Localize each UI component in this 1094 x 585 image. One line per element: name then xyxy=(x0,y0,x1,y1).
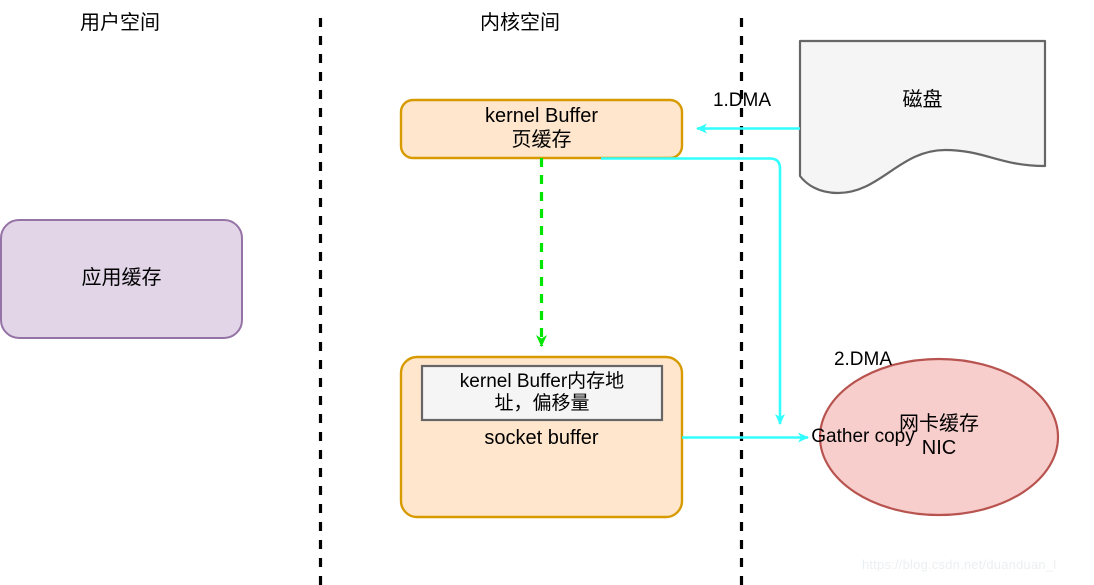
edge-label-dma-1: 1.DMA xyxy=(696,88,788,114)
node-app-buffer[interactable] xyxy=(1,220,242,338)
node-socket-buffer-descriptor-box xyxy=(422,366,662,420)
edge-label-dma-2-line1: 2.DMA xyxy=(788,347,938,373)
zone-title-user-space: 用户空间 xyxy=(40,6,200,35)
node-disk[interactable] xyxy=(800,41,1045,193)
diagram-canvas: 用户空间 内核空间 应用缓存 kernel Buffer 页缓存 kernel … xyxy=(0,0,1094,585)
zone-title-kernel-space: 内核空间 xyxy=(440,6,600,35)
edge-label-dma-2-line2: Gather copy xyxy=(788,424,938,450)
watermark: https://blog.csdn.net/duanduan_l xyxy=(862,557,1056,572)
edge-label-dma-2: 2.DMA Gather copy xyxy=(788,296,938,501)
node-kernel-buffer[interactable] xyxy=(401,100,682,158)
